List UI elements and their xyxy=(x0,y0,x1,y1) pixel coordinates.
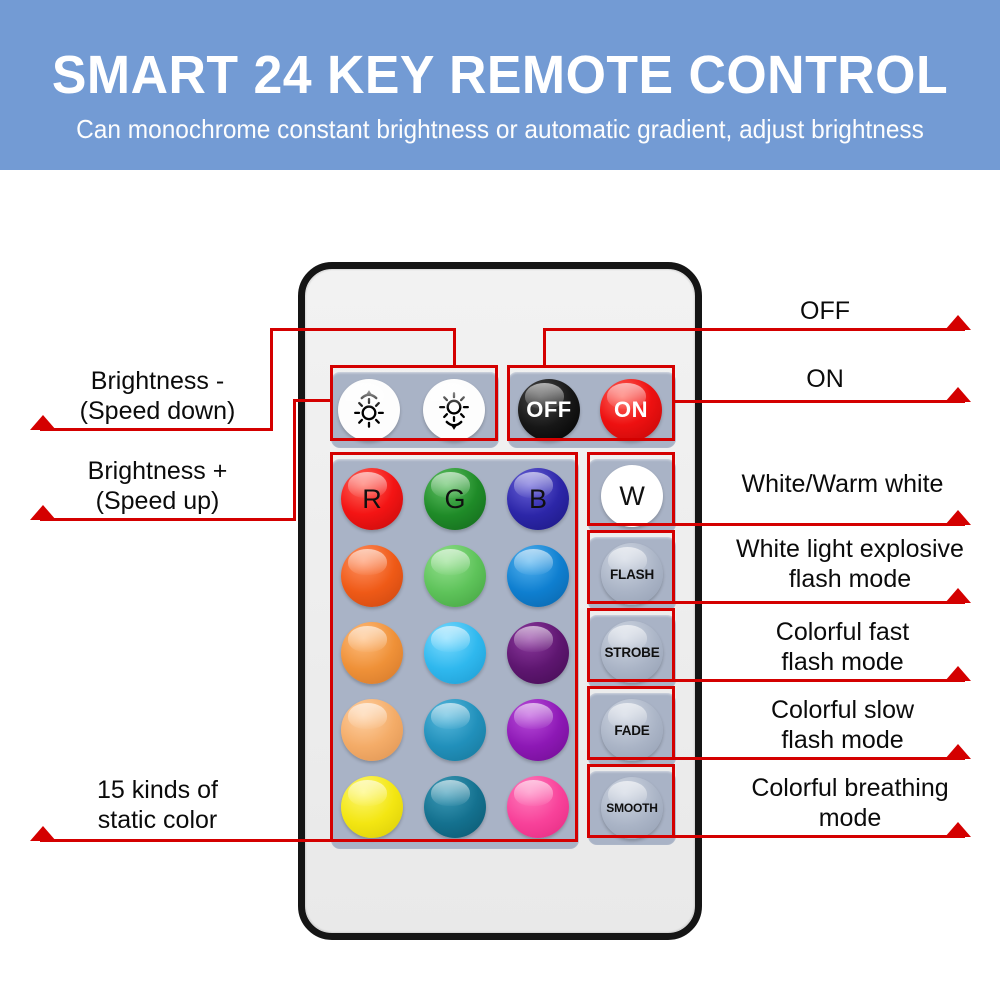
connector-white-h1 xyxy=(672,523,965,526)
page-title: SMART 24 KEY REMOTE CONTROL xyxy=(20,46,980,104)
connector-off-h1 xyxy=(543,328,965,331)
callout-smooth: Colorful breathing mode xyxy=(700,773,1000,833)
flash-key-label: FLASH xyxy=(610,567,654,582)
connector-flash-h1 xyxy=(672,601,965,604)
header-banner: SMART 24 KEY REMOTE CONTROL Can monochro… xyxy=(0,0,1000,170)
highlight-brightness-group xyxy=(330,365,498,441)
callout-off: OFF xyxy=(700,296,950,326)
arrow-white xyxy=(945,510,971,525)
connector-smooth-h1 xyxy=(672,835,965,838)
connector-brightness-down-v1 xyxy=(453,328,456,368)
connector-brightness-up-v1 xyxy=(293,399,296,521)
connector-brightness-up-h2 xyxy=(40,518,296,521)
on-key-label: ON xyxy=(614,397,648,423)
off-key-label: OFF xyxy=(526,397,572,423)
smooth-key-label: SMOOTH xyxy=(606,801,657,815)
callout-static-colors: 15 kinds of static color xyxy=(40,775,275,835)
callout-static-colors-line1: 15 kinds of xyxy=(40,775,275,805)
callout-strobe: Colorful fast flash mode xyxy=(700,617,985,677)
connector-brightness-up-h1 xyxy=(293,399,333,402)
callout-smooth-line2: mode xyxy=(700,803,1000,833)
connector-on-h1 xyxy=(672,400,965,403)
callout-flash-line1: White light explosive xyxy=(700,534,1000,564)
connector-brightness-down-h2 xyxy=(40,428,273,431)
connector-brightness-down-h1 xyxy=(270,328,456,331)
white-key-label: W xyxy=(619,481,644,512)
strobe-key-label: STROBE xyxy=(604,645,659,660)
callout-white-line1: White/Warm white xyxy=(700,469,985,499)
callout-flash-line2: flash mode xyxy=(700,564,1000,594)
callout-strobe-line1: Colorful fast xyxy=(700,617,985,647)
callout-fade: Colorful slow flash mode xyxy=(700,695,985,755)
callout-static-colors-line2: static color xyxy=(40,805,275,835)
connector-off-v1 xyxy=(543,328,546,368)
callout-on: ON xyxy=(700,364,950,394)
callout-brightness-down: Brightness - (Speed down) xyxy=(40,366,275,426)
connector-strobe-h1 xyxy=(672,679,965,682)
callout-off-line1: OFF xyxy=(700,296,950,326)
callout-strobe-line2: flash mode xyxy=(700,647,985,677)
color-key-label: B xyxy=(529,484,547,515)
color-key-label: G xyxy=(444,484,465,515)
callout-fade-line2: flash mode xyxy=(700,725,985,755)
color-key-label: R xyxy=(362,484,382,515)
callout-brightness-up-line1: Brightness + xyxy=(40,456,275,486)
callout-white: White/Warm white xyxy=(700,469,985,499)
infographic-stage: SMART 24 KEY REMOTE CONTROL Can monochro… xyxy=(0,0,1000,1000)
callout-brightness-up-line2: (Speed up) xyxy=(40,486,275,516)
page-subtitle: Can monochrome constant brightness or au… xyxy=(30,114,970,144)
connector-static-colors xyxy=(40,839,332,842)
callout-brightness-down-line1: Brightness - xyxy=(40,366,275,396)
fade-key-label: FADE xyxy=(614,723,649,738)
callout-fade-line1: Colorful slow xyxy=(700,695,985,725)
callout-brightness-down-line2: (Speed down) xyxy=(40,396,275,426)
callout-brightness-up: Brightness + (Speed up) xyxy=(40,456,275,516)
callout-flash: White light explosive flash mode xyxy=(700,534,1000,594)
callout-on-line1: ON xyxy=(700,364,950,394)
callout-smooth-line1: Colorful breathing xyxy=(700,773,1000,803)
connector-fade-h1 xyxy=(672,757,965,760)
